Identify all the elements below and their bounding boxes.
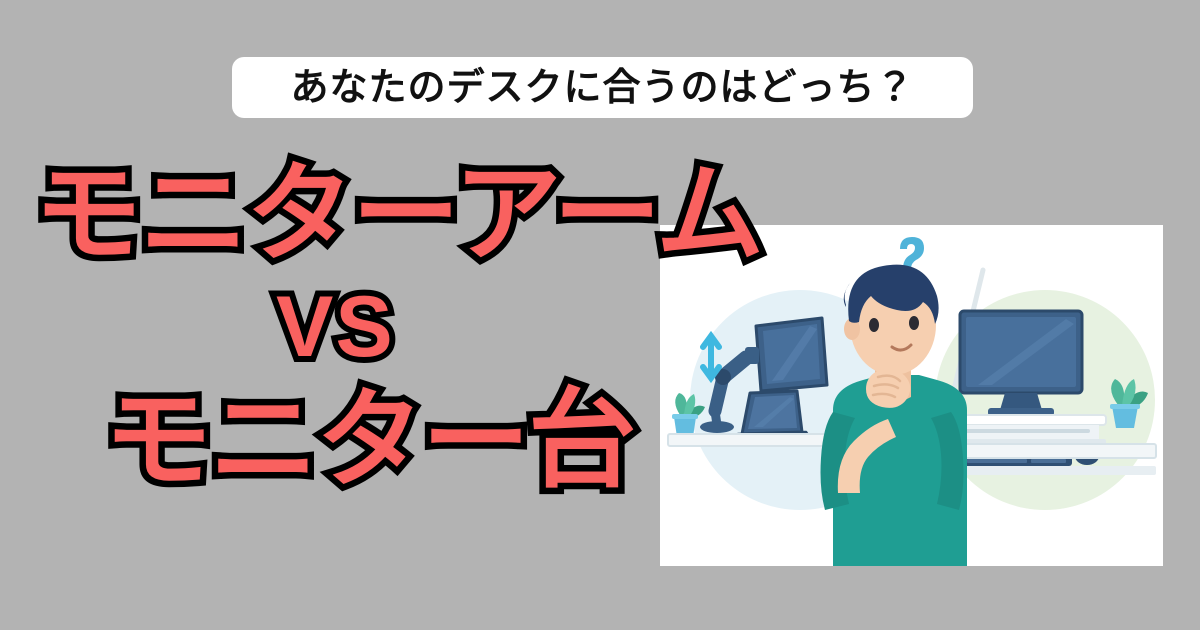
arm-base bbox=[700, 421, 734, 433]
illustration-svg bbox=[660, 225, 1163, 566]
thumbnail-canvas: あなたのデスクに合うのはどっち？ モニターアーム VS モニター台 bbox=[0, 0, 1200, 630]
illustration-panel bbox=[660, 225, 1163, 566]
headline-line-2: モニター台 bbox=[104, 386, 740, 494]
headline-line-1: モニターアーム bbox=[34, 160, 740, 268]
subtitle-badge: あなたのデスクに合うのはどっち？ bbox=[232, 57, 973, 118]
thinking-person bbox=[821, 237, 968, 566]
person-eye-left bbox=[869, 318, 879, 332]
subtitle-text: あなたのデスクに合うのはどっち？ bbox=[290, 69, 914, 107]
headline-group: モニターアーム VS モニター台 bbox=[0, 160, 740, 494]
person-eye-right bbox=[909, 316, 919, 330]
desk-left bbox=[668, 434, 848, 446]
